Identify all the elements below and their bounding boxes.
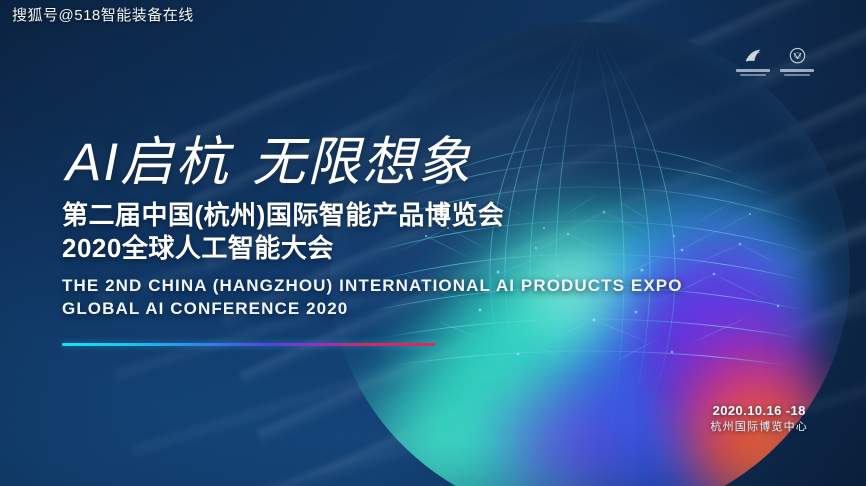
- subtitle-en-line-2: GLOBAL AI CONFERENCE 2020: [62, 297, 683, 320]
- poster-copy-block: AI启杭无限想象 第二届中国(杭州)国际智能产品博览会 2020全球人工智能大会…: [62, 132, 683, 320]
- conference-emblem-icon: [787, 46, 808, 67]
- logo-group: [736, 46, 814, 76]
- watermark-text: 搜狐号@518智能装备在线: [12, 6, 194, 26]
- date-venue-block: 2020.10.16 -18 杭州国际博览中心: [710, 402, 808, 435]
- event-poster: 搜狐号@518智能装备在线: [0, 0, 866, 486]
- event-date: 2020.10.16 -18: [710, 402, 808, 419]
- expo-emblem-wordmark: [736, 69, 770, 72]
- poster-headline: AI启杭无限想象: [66, 132, 683, 194]
- headline-part-1: AI启杭: [66, 133, 230, 192]
- conference-emblem-subtext: [784, 74, 811, 76]
- expo-emblem-icon: [743, 46, 764, 67]
- event-venue: 杭州国际博览中心: [710, 419, 808, 435]
- conference-emblem-wordmark: [780, 69, 814, 72]
- subtitle-cn-line-2: 2020全球人工智能大会: [62, 233, 683, 264]
- headline-part-2: 无限想象: [252, 133, 472, 192]
- expo-emblem-subtext: [740, 74, 767, 76]
- conference-emblem-logo: [780, 46, 814, 76]
- gradient-divider: [62, 343, 435, 346]
- expo-emblem-logo: [736, 46, 770, 76]
- subtitle-en-line-1: THE 2ND CHINA (HANGZHOU) INTERNATIONAL A…: [62, 274, 683, 297]
- subtitle-cn-line-1: 第二届中国(杭州)国际智能产品博览会: [62, 200, 683, 231]
